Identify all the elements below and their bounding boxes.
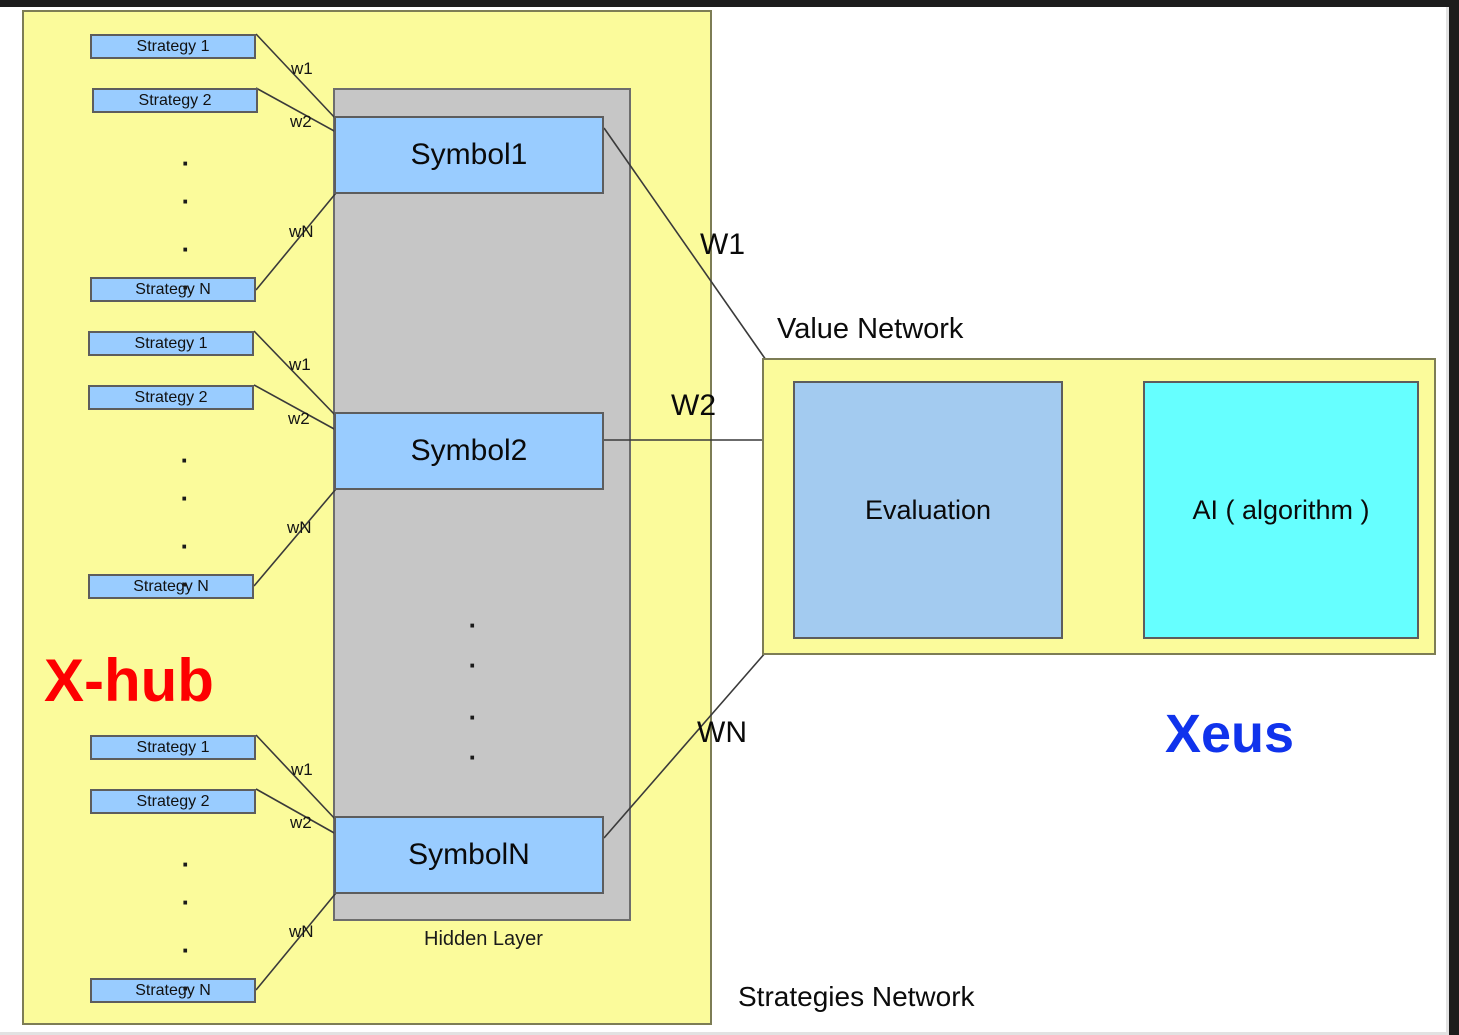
strategy-box-g3-n[interactable]: Strategy N [90, 978, 256, 1003]
output-weight-label-wn: WN [697, 716, 747, 750]
hidden-layer-label: Hidden Layer [424, 928, 543, 951]
ellipsis-dot: · [463, 704, 483, 730]
ellipsis-dot: · [176, 150, 196, 176]
strategy-box-g1-1[interactable]: Strategy 1 [90, 34, 256, 59]
weight-label-g3-w2: w2 [290, 813, 312, 833]
symbol-box-2[interactable]: Symbol2 [334, 412, 604, 490]
strategies-network-label: Strategies Network [738, 981, 975, 1013]
window-chrome-top [0, 0, 1459, 7]
window-chrome-right [1449, 0, 1459, 1035]
ellipsis-dot: · [176, 851, 196, 877]
ai-algorithm-box[interactable]: AI ( algorithm ) [1143, 381, 1419, 639]
ellipsis-dot: · [176, 236, 196, 262]
weight-label-g2-w2: w2 [288, 409, 310, 429]
ellipsis-dot: · [175, 485, 195, 511]
evaluation-box[interactable]: Evaluation [793, 381, 1063, 639]
ellipsis-dot: · [176, 937, 196, 963]
ellipsis-dot: · [176, 889, 196, 915]
ellipsis-dot: · [176, 188, 196, 214]
strategy-ellipsis-g2: · · · · [175, 447, 195, 597]
strategy-box-g3-2[interactable]: Strategy 2 [90, 789, 256, 814]
strategy-ellipsis-g1: · · · · [176, 150, 196, 300]
strategy-box-g2-n[interactable]: Strategy N [88, 574, 254, 599]
weight-label-g3-w1: w1 [291, 760, 313, 780]
output-weight-label-w2: W2 [671, 389, 716, 423]
symbol-box-1[interactable]: Symbol1 [334, 116, 604, 194]
ellipsis-dot: · [176, 274, 196, 300]
hidden-layer-panel [333, 88, 631, 921]
strategy-box-g2-1[interactable]: Strategy 1 [88, 331, 254, 356]
strategy-box-g1-2[interactable]: Strategy 2 [92, 88, 258, 113]
strategy-box-g1-n[interactable]: Strategy N [90, 277, 256, 302]
ellipsis-dot: · [463, 612, 483, 638]
ellipsis-dot: · [463, 652, 483, 678]
strategy-box-g3-1[interactable]: Strategy 1 [90, 735, 256, 760]
weight-label-g2-w1: w1 [289, 355, 311, 375]
symbol-box-n[interactable]: SymbolN [334, 816, 604, 894]
hidden-layer-ellipsis: · · · · [463, 612, 483, 770]
brand-label-xeus: Xeus [1165, 703, 1294, 765]
strategy-ellipsis-g3: · · · · [176, 851, 196, 1001]
weight-label-g3-wn: wN [289, 922, 314, 942]
value-network-label: Value Network [777, 313, 963, 346]
weight-label-g1-wn: wN [289, 222, 314, 242]
ellipsis-dot: · [175, 571, 195, 597]
weight-label-g1-w2: w2 [290, 112, 312, 132]
ellipsis-dot: · [176, 975, 196, 1001]
weight-label-g1-w1: w1 [291, 59, 313, 79]
diagram-canvas: Hidden Layer Symbol1 Symbol2 SymbolN · ·… [0, 0, 1459, 1035]
weight-label-g2-wn: wN [287, 518, 312, 538]
ellipsis-dot: · [463, 744, 483, 770]
output-weight-label-w1: W1 [700, 228, 745, 262]
brand-label-xhub: X-hub [44, 646, 214, 715]
strategy-box-g2-2[interactable]: Strategy 2 [88, 385, 254, 410]
ellipsis-dot: · [175, 533, 195, 559]
ellipsis-dot: · [175, 447, 195, 473]
